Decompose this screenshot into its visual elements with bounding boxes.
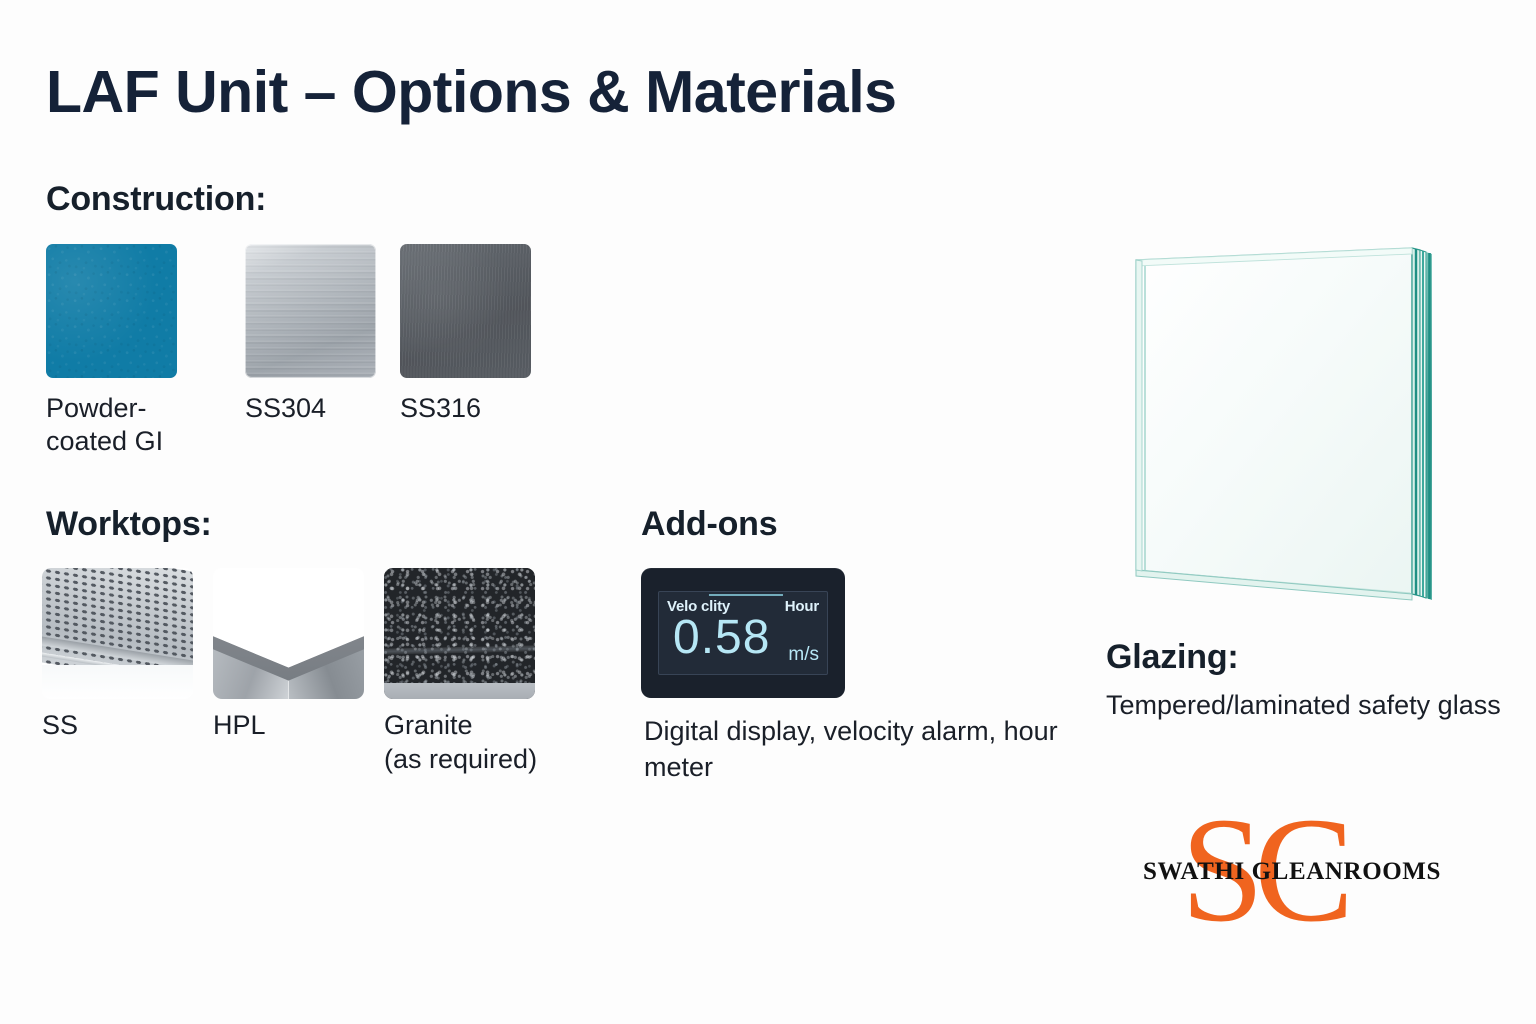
construction-option-ss304[interactable]: SS304 [245,244,376,425]
swatch-label-line-1: Granite [384,710,473,740]
construction-option-ss316[interactable]: SS316 [400,244,531,425]
plate-base [42,665,193,699]
hpl-worktop-swatch[interactable] [213,568,364,699]
glazing-heading: Glazing: [1106,638,1239,677]
granite-surface [384,568,535,683]
worktops-swatch-row: SS HPL Granite (as required) [42,568,537,777]
swatch-label: SS [42,709,78,743]
display-hour-label: Hour [785,598,819,615]
display-velocity-unit: m/s [788,644,819,666]
display-velocity-value: 0.58 [673,614,770,662]
addons-caption: Digital display, velocity alarm, hour me… [644,714,1074,786]
slide-canvas: LAF Unit – Options & Materials Construct… [0,0,1536,1024]
granite-worktop-swatch[interactable] [384,568,535,699]
logo-wordmark: SWATHI GLEANROOMS [1143,858,1382,886]
glass-panel-illustration [1120,238,1450,638]
swatch-label: HPL [213,709,266,743]
addons-heading: Add-ons [641,505,777,544]
brand-logo: SC SWATHI GLEANROOMS [1155,806,1370,934]
worktop-option-granite[interactable]: Granite (as required) [384,568,537,777]
ss316-swatch[interactable] [400,244,531,378]
digital-display-screen: Velo clity Hour 0.58 m/s [658,591,828,675]
swatch-label: Powder-coated GI [46,392,221,458]
ss304-swatch[interactable] [245,244,376,378]
worktop-option-hpl[interactable]: HPL [213,568,364,743]
powder-coated-gi-swatch[interactable] [46,244,177,378]
swatch-label: SS304 [245,392,326,425]
construction-swatch-row: Powder-coated GI SS304 SS316 [46,244,531,458]
swatch-label: SS316 [400,392,481,425]
worktop-option-ss[interactable]: SS [42,568,193,743]
worktops-heading: Worktops: [46,505,212,544]
construction-option-powder-coated-gi[interactable]: Powder-coated GI [46,244,221,458]
swatch-label: Granite (as required) [384,709,537,777]
ss-perforated-worktop-swatch[interactable] [42,568,193,699]
swatch-label-line-2: (as required) [384,744,537,774]
digital-display-device[interactable]: Velo clity Hour 0.58 m/s [641,568,845,698]
construction-heading: Construction: [46,180,266,219]
page-title: LAF Unit – Options & Materials [46,62,896,124]
display-top-indicator-bar [709,594,783,596]
granite-base [384,683,535,699]
glazing-caption: Tempered/laminated safety glass [1106,688,1506,724]
